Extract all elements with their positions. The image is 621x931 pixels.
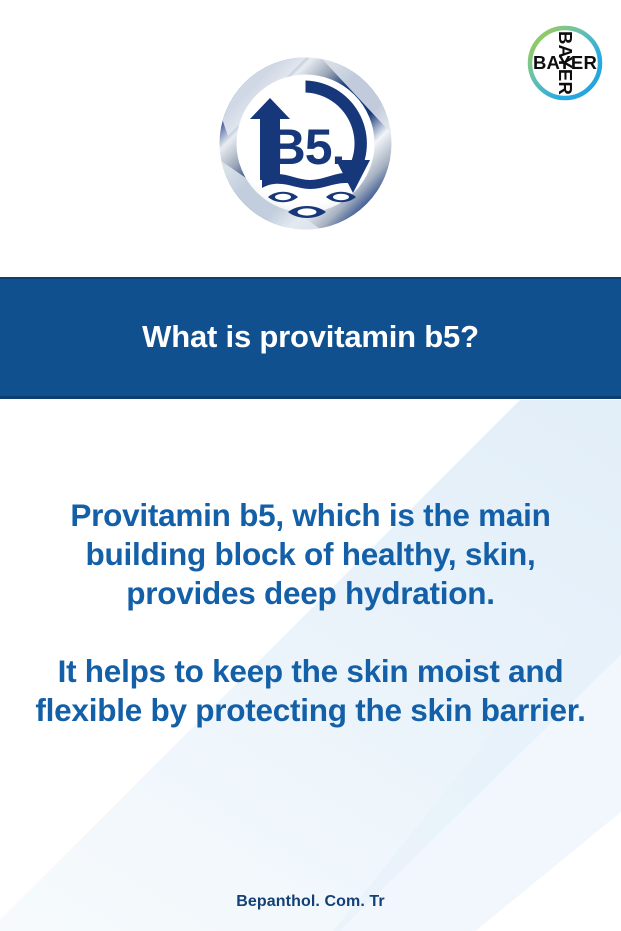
source-attribution: Bepanthol. Com. Tr — [0, 893, 621, 911]
answer-paragraph-1: Provitamin b5, which is the main buildin… — [18, 496, 603, 613]
answer-paragraph-2: It helps to keep the skin moist and flex… — [18, 652, 603, 730]
card-header: B5. — [0, 0, 621, 277]
svg-text:BAYER: BAYER — [555, 31, 576, 95]
banner-title: What is provitamin b5? — [124, 320, 497, 354]
promo-card: B5. — [0, 0, 621, 931]
question-banner: What is provitamin b5? — [0, 277, 621, 399]
answer-text-block: Provitamin b5, which is the main buildin… — [18, 496, 603, 730]
b5-emblem-icon: B5. — [218, 56, 393, 231]
card-body: Provitamin b5, which is the main buildin… — [0, 400, 621, 931]
bayer-cross-icon: BAYER BAYER — [522, 20, 608, 106]
svg-text:B5.: B5. — [270, 119, 345, 175]
